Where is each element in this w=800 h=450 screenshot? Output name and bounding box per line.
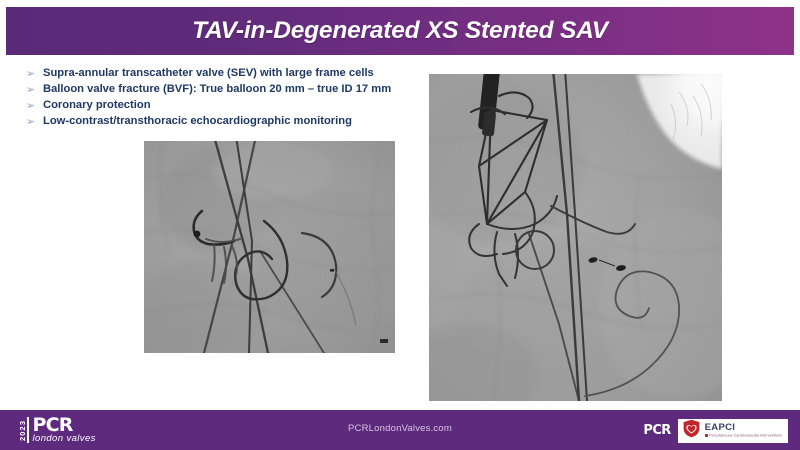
bullet-label: Balloon valve fracture (BVF): True ballo… — [43, 82, 391, 98]
list-item: ➢ Balloon valve fracture (BVF): True bal… — [26, 82, 446, 98]
arrow-bullet-icon: ➢ — [26, 82, 43, 98]
list-item: ➢ Low-contrast/transthoracic echocardiog… — [26, 114, 446, 130]
logo-london-valves-text: london valves — [33, 434, 96, 444]
eapci-text-block: EAPCI Percutaneous Cardiovascular Interv… — [705, 423, 782, 439]
eapci-name: EAPCI — [705, 423, 782, 433]
list-item: ➢ Supra-annular transcatheter valve (SEV… — [26, 66, 446, 82]
fluoroscopy-right-image — [429, 74, 722, 401]
pcr-small-logo: PCR — [643, 423, 670, 438]
arrow-bullet-icon: ➢ — [26, 114, 43, 130]
arrow-bullet-icon: ➢ — [26, 66, 43, 82]
fluoroscopy-left-image — [144, 141, 395, 353]
list-item: ➢ Coronary protection — [26, 98, 446, 114]
heart-shield-icon — [682, 419, 701, 443]
arrow-bullet-icon: ➢ — [26, 98, 43, 114]
page-title: TAV-in-Degenerated XS Stented SAV — [192, 17, 608, 45]
slide-root: TAV-in-Degenerated XS Stented SAV ➢ Supr… — [0, 0, 800, 450]
eapci-subtitle: Percutaneous Cardiovascular Intervention… — [705, 434, 782, 438]
footer-partner-logos: PCR EAPCI Percutaneous Cardiovascular In… — [643, 418, 788, 443]
bullet-label: Supra-annular transcatheter valve (SEV) … — [43, 66, 374, 82]
bullet-label: Coronary protection — [43, 98, 151, 114]
slide-title-bar: TAV-in-Degenerated XS Stented SAV — [6, 7, 794, 55]
bullet-label: Low-contrast/transthoracic echocardiogra… — [43, 114, 352, 130]
bullet-list: ➢ Supra-annular transcatheter valve (SEV… — [26, 66, 446, 130]
eapci-logo: EAPCI Percutaneous Cardiovascular Interv… — [678, 419, 788, 443]
